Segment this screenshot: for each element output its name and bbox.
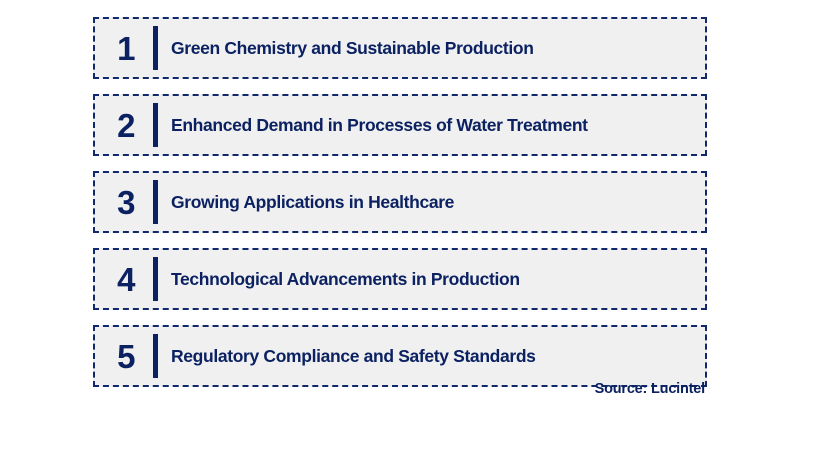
trend-row: 3 Growing Applications in Healthcare (93, 171, 707, 233)
rank-divider-bar (153, 103, 158, 147)
trend-label: Green Chemistry and Sustainable Producti… (171, 38, 705, 58)
trend-rank-number: 2 (103, 109, 149, 142)
rank-divider-bar (153, 334, 158, 378)
trend-rank-number: 4 (103, 263, 149, 296)
rank-divider-bar (153, 180, 158, 224)
trend-row: 4 Technological Advancements in Producti… (93, 248, 707, 310)
trend-label: Enhanced Demand in Processes of Water Tr… (171, 115, 705, 135)
source-attribution: Source: Lucintel (595, 380, 705, 398)
trend-rank-number: 5 (103, 340, 149, 373)
trend-row: 5 Regulatory Compliance and Safety Stand… (93, 325, 707, 387)
trend-rank-number: 3 (103, 186, 149, 219)
rank-divider-bar (153, 26, 158, 70)
trend-label: Growing Applications in Healthcare (171, 192, 705, 212)
trend-rank-number: 1 (103, 32, 149, 65)
trend-label: Technological Advancements in Production (171, 269, 705, 289)
rank-divider-bar (153, 257, 158, 301)
trend-row: 2 Enhanced Demand in Processes of Water … (93, 94, 707, 156)
trend-row: 1 Green Chemistry and Sustainable Produc… (93, 17, 707, 79)
trend-list: 1 Green Chemistry and Sustainable Produc… (93, 17, 707, 387)
trend-label: Regulatory Compliance and Safety Standar… (171, 346, 705, 366)
emerging-trends-infographic: 1 Green Chemistry and Sustainable Produc… (0, 0, 819, 460)
